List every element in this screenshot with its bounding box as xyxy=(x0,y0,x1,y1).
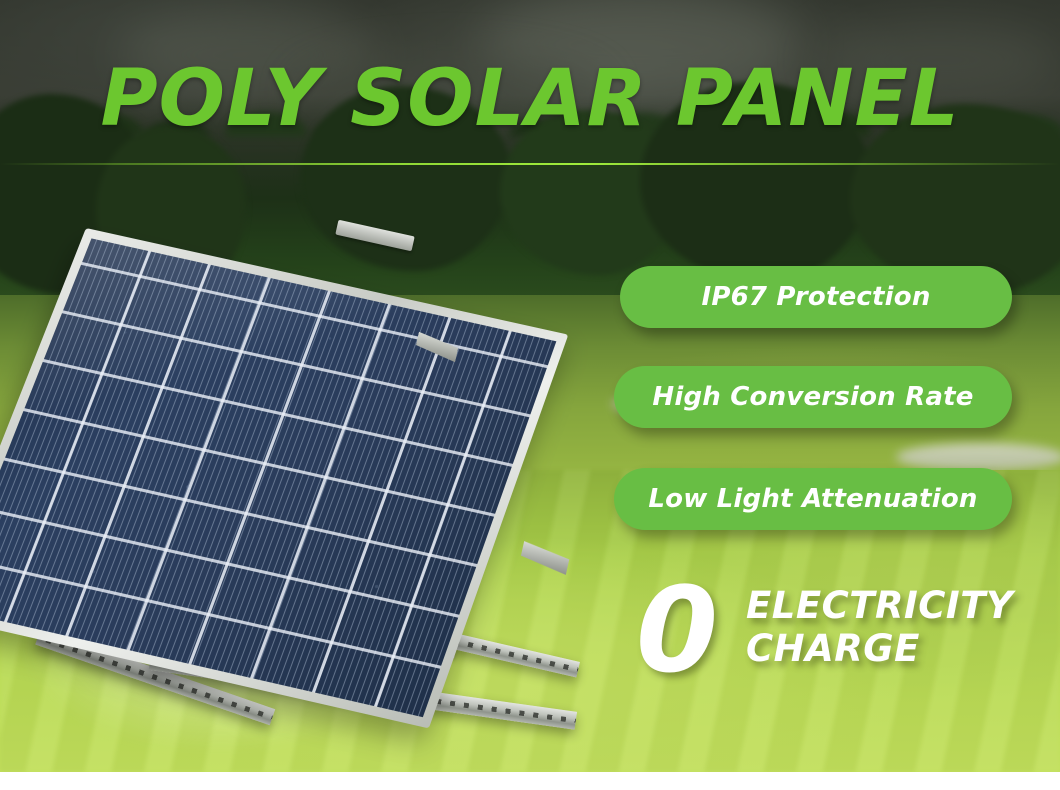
zero-charge-callout: 0 ELECTRICITY CHARGE xyxy=(636,578,1036,690)
zero-charge-label-line2: CHARGE xyxy=(746,627,1013,670)
product-banner: POLY SOLAR PANEL IP67 Protection High Co… xyxy=(0,0,1060,790)
zero-charge-label-line1: ELECTRICITY xyxy=(746,584,1013,627)
solar-panel xyxy=(86,228,576,628)
sand-bunker xyxy=(896,443,1060,471)
feature-badge-ip67[interactable]: IP67 Protection xyxy=(620,266,1012,328)
zero-charge-number: 0 xyxy=(636,574,718,686)
bottom-white-strip xyxy=(0,772,1060,790)
feature-badge-high-conversion-rate[interactable]: High Conversion Rate xyxy=(614,366,1012,428)
zero-charge-label: ELECTRICITY CHARGE xyxy=(746,584,1013,670)
feature-badge-low-light-attenuation[interactable]: Low Light Attenuation xyxy=(614,468,1012,530)
banner-title: POLY SOLAR PANEL xyxy=(0,58,1060,140)
